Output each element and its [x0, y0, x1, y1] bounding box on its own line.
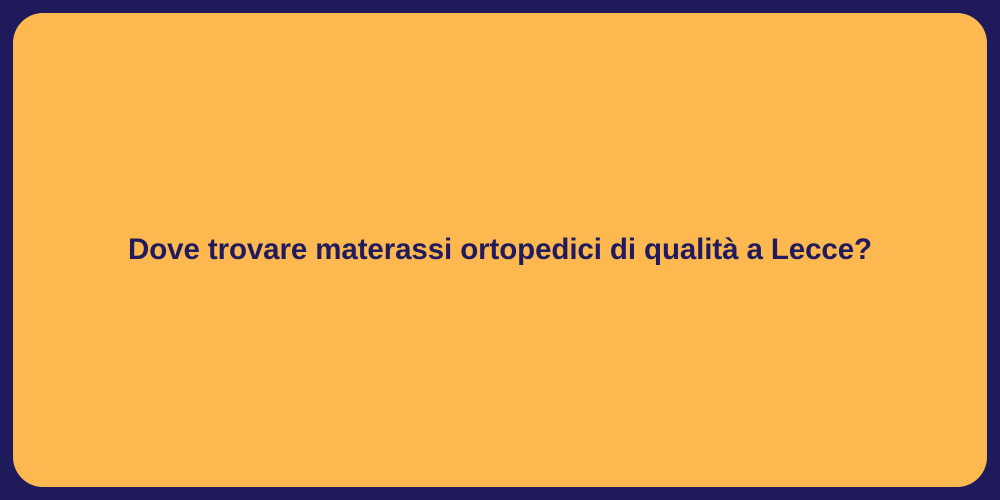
card-panel: Dove trovare materassi ortopedici di qua…	[13, 13, 987, 487]
card-frame: Dove trovare materassi ortopedici di qua…	[0, 0, 1000, 500]
page-title: Dove trovare materassi ortopedici di qua…	[128, 232, 872, 269]
